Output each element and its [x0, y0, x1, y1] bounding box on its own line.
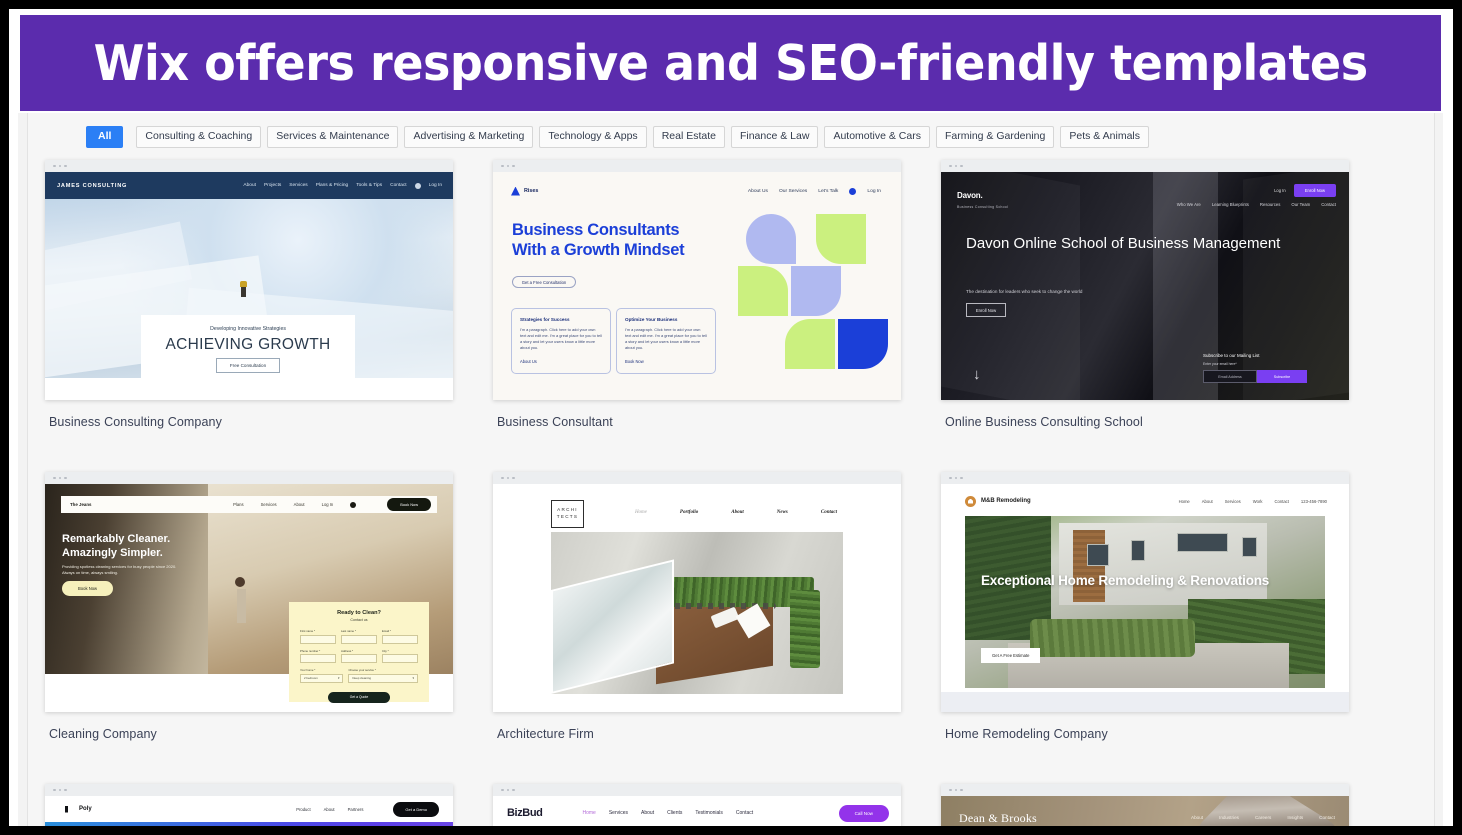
nav-link: Learning Blueprints	[1212, 202, 1249, 207]
nav-link: Clients	[667, 810, 682, 816]
feature-card-link: Book Now	[625, 359, 707, 364]
newsletter-title: Subscribe to our Mailing List	[1203, 353, 1307, 358]
nav-links: About Projects Services Plans & Pricing …	[243, 183, 442, 189]
nav-link: Contact	[390, 183, 407, 188]
newsletter-row: Email Address Subscribe	[1203, 370, 1307, 383]
phone-number: 123-456-7890	[1301, 499, 1327, 504]
field-label: Address *	[341, 649, 377, 653]
filter-chip-consulting-coaching[interactable]: Consulting & Coaching	[136, 126, 261, 149]
window-dot	[64, 165, 67, 168]
screenshot-root: Wix offers responsive and SEO-friendly t…	[0, 0, 1462, 835]
call-now-button: Call Now	[839, 805, 889, 822]
nav-link: Tools & Tips	[356, 183, 382, 188]
hero-headline: ACHIEVING GROWTH	[166, 336, 331, 354]
hero-headline: Remarkably Cleaner. Amazingly Simpler.	[62, 532, 170, 561]
account-icon	[849, 188, 856, 195]
template-body: Dean & Brooks Business Consultants About…	[941, 796, 1349, 826]
mountain-rock	[1187, 796, 1348, 826]
window-dot	[949, 477, 952, 480]
window-dot	[512, 789, 515, 792]
form-field: Address *	[341, 649, 377, 664]
grid-row-spacer	[493, 741, 901, 784]
text-input	[300, 635, 336, 644]
scroll-down-arrow-icon: ↓	[973, 367, 981, 382]
hero-text-box: Developing Innovative Strategies ACHIEVI…	[141, 315, 355, 383]
window-dot	[59, 789, 62, 792]
subscribe-button: Subscribe	[1257, 370, 1307, 383]
template-preview: M&B Remodeling Home About Services Work …	[941, 484, 1349, 712]
nav-link: Portfolio	[680, 510, 698, 515]
nav-link: About	[1191, 815, 1203, 820]
window-dot	[955, 165, 958, 168]
feature-card-body: I'm a paragraph. Click here to add your …	[520, 327, 602, 351]
window	[1087, 544, 1109, 566]
email-field: Email Address	[1203, 370, 1257, 383]
field-label: Choose your service *	[348, 668, 418, 672]
nav-link: About	[294, 502, 305, 507]
newsletter-signup: Subscribe to our Mailing List Enter your…	[1203, 353, 1307, 383]
template-body: Rises About Us Our Services Let's Talk L…	[493, 172, 901, 400]
feature-card-title: Optimize Your Business	[625, 317, 707, 322]
page-frame: Wix offers responsive and SEO-friendly t…	[9, 9, 1453, 826]
headline-line-1: Business Consultants	[512, 220, 684, 240]
filter-chip-automotive-cars[interactable]: Automotive & Cars	[824, 126, 930, 149]
window-dot	[507, 165, 510, 168]
browser-chrome	[941, 784, 1349, 796]
template-cell: Rises About Us Our Services Let's Talk L…	[493, 160, 901, 429]
window-dot	[960, 789, 963, 792]
book-now-button: Book Now	[387, 498, 431, 511]
nav-link: Contact	[1274, 499, 1288, 504]
browser-chrome	[45, 472, 453, 484]
template-name: Business Consulting Company	[49, 415, 453, 429]
browser-chrome	[941, 472, 1349, 484]
kitchen-photo: The Jeans Plans Services About Log In Bo…	[45, 484, 453, 712]
template-cell: The Jeans Plans Services About Log In Bo…	[45, 472, 453, 741]
text-input	[382, 635, 418, 644]
headline-line-2: Amazingly Simpler.	[62, 546, 170, 560]
window-dot	[955, 789, 958, 792]
brand-tagline: Business Consulting School	[957, 205, 1008, 209]
template-body: Fast & Reliable I'm a paragraph. Click h…	[45, 796, 453, 826]
filter-chip-technology-apps[interactable]: Technology & Apps	[539, 126, 646, 149]
nav-link: Our Services	[779, 189, 807, 194]
brand-logo: Rises	[524, 188, 538, 194]
template-header-nav: The Jeans Plans Services About Log In Bo…	[61, 496, 437, 513]
nav-link: Plans & Pricing	[316, 183, 349, 188]
template-preview: The Jeans Plans Services About Log In Bo…	[45, 484, 453, 712]
nav-link: Who We Are	[1177, 202, 1201, 207]
template-name: Cleaning Company	[49, 727, 453, 741]
window	[1242, 537, 1256, 558]
browser-chrome	[493, 472, 901, 484]
hero-cta-button: Get A Free Estimate	[981, 648, 1040, 663]
hero-headline: Exceptional Home Remodeling & Renovation…	[981, 572, 1269, 590]
window-dot	[960, 165, 963, 168]
field-label: Your home *	[300, 668, 343, 672]
login-link: Log In	[1274, 188, 1286, 193]
headline-line-1: Remarkably Cleaner.	[62, 532, 170, 546]
template-cell: ARCHI TECTS Home Portfolio About News Co…	[493, 472, 901, 741]
template-card-architecture-firm[interactable]: ARCHI TECTS Home Portfolio About News Co…	[493, 472, 901, 712]
window-dot	[512, 165, 515, 168]
template-preview: Fast & Reliable I'm a paragraph. Click h…	[45, 796, 453, 826]
template-body: BizBud Home Services About Clients Testi…	[493, 796, 901, 826]
feature-card: Strategies for Success I'm a paragraph. …	[511, 308, 611, 374]
geometric-artwork	[738, 214, 890, 374]
template-body: ARCHI TECTS Home Portfolio About News Co…	[493, 484, 901, 712]
get-a-demo-button: Get a Demo	[393, 802, 439, 817]
brand-logo: Poly	[79, 806, 92, 812]
window-dot	[501, 789, 504, 792]
template-cell: M&B Remodeling Home About Services Work …	[941, 472, 1349, 741]
window-dot	[53, 477, 56, 480]
feature-card-title: Strategies for Success	[520, 317, 602, 322]
nav-link: About	[1202, 499, 1213, 504]
select-service-type: Deep cleaning▾	[348, 674, 418, 683]
field-label: City *	[382, 649, 418, 653]
form-title: Ready to Clean?	[300, 610, 418, 616]
nav-link: Services	[261, 502, 277, 507]
nav-link: Partners	[348, 807, 364, 812]
enroll-button: Enroll Now	[1294, 184, 1336, 197]
select-value: 2 bedroom	[304, 676, 318, 680]
window	[1177, 533, 1227, 552]
garden-bushes	[1030, 619, 1196, 657]
account-icon	[350, 502, 356, 508]
browser-chrome	[45, 160, 453, 172]
nav-link: About Us	[748, 189, 768, 194]
hero-eyebrow: Developing Innovative Strategies	[210, 326, 286, 332]
hero-subtitle: The destination for leaders who seek to …	[966, 289, 1082, 294]
feature-card: Optimize Your Business I'm a paragraph. …	[616, 308, 716, 374]
template-name: Business Consultant	[497, 415, 901, 429]
hero-cta-button: Book Now	[62, 581, 113, 596]
get-a-quote-button: Get a Quote	[328, 692, 390, 703]
template-name: Home Remodeling Company	[945, 727, 1349, 741]
house-logo-icon	[965, 496, 976, 507]
template-preview: Dean & Brooks Business Consultants About…	[941, 796, 1349, 826]
browser-chrome	[493, 160, 901, 172]
window-dot	[507, 477, 510, 480]
form-selects: Your home * 2 bedroom▾ Choose your servi…	[300, 668, 418, 683]
logo-line-1: ARCHI	[557, 507, 578, 514]
nav-link: Our Team	[1291, 202, 1310, 207]
hero-gradient: Fast & Reliable I'm a paragraph. Click h…	[45, 822, 453, 826]
modern-house-photo: Exceptional Home Remodeling & Renovation…	[965, 516, 1325, 688]
template-cell: Fast & Reliable I'm a paragraph. Click h…	[45, 784, 453, 826]
brand-logo: BizBud	[507, 807, 542, 819]
nav-link: Insights	[1287, 815, 1303, 820]
form-fields: First name * Last name * Email * Phone n…	[300, 629, 418, 663]
template-preview: JAMES CONSULTING About Projects Services…	[45, 172, 453, 400]
hero-headline: Davon Online School of Business Manageme…	[966, 234, 1280, 254]
nav-link: Home	[635, 510, 647, 515]
grid-row-spacer	[493, 429, 901, 472]
nav-link: Contact	[821, 510, 837, 515]
template-header-nav: M&B Remodeling Home About Services Work …	[941, 490, 1349, 512]
brand-logo: Davon.	[957, 191, 982, 200]
template-cell: BizBud Home Services About Clients Testi…	[493, 784, 901, 826]
nav-link: Work	[1253, 499, 1263, 504]
login-link: Log In	[322, 502, 334, 507]
window-dot	[501, 477, 504, 480]
grid-row-spacer	[45, 741, 453, 784]
nav-links: About Industries Careers Insights Contac…	[1191, 815, 1335, 820]
browser-chrome	[941, 160, 1349, 172]
window-dot	[960, 477, 963, 480]
template-card-cleaning-company[interactable]: The Jeans Plans Services About Log In Bo…	[45, 472, 453, 712]
brand-logo: ARCHI TECTS	[551, 500, 584, 528]
window-dot	[64, 477, 67, 480]
filter-chip-all[interactable]: All	[86, 126, 123, 149]
form-field: Last name *	[341, 629, 377, 644]
feature-cards: Strategies for Success I'm a paragraph. …	[511, 308, 716, 374]
nav-link: Let's Talk	[818, 189, 838, 194]
template-card-dean-and-brooks[interactable]: Dean & Brooks Business Consultants About…	[941, 784, 1349, 826]
select-home-type: 2 bedroom▾	[300, 674, 343, 683]
template-body: M&B Remodeling Home About Services Work …	[941, 484, 1349, 712]
hero-headline: Business Consultants With a Growth Minds…	[512, 220, 684, 260]
nav-link: Projects	[264, 183, 281, 188]
template-card-home-remodeling-company[interactable]: M&B Remodeling Home About Services Work …	[941, 472, 1349, 712]
filter-chip-advertising-marketing[interactable]: Advertising & Marketing	[404, 126, 533, 149]
nav-links: Who We Are Learning Blueprints Resources…	[1177, 202, 1336, 207]
template-cell: JAMES CONSULTING About Projects Services…	[45, 160, 453, 429]
template-name: Architecture Firm	[497, 727, 901, 741]
nav-link: About	[243, 183, 256, 188]
template-card-online-business-consulting-school[interactable]: Davon. Business Consulting School Log In…	[941, 160, 1349, 400]
app-content: All Consulting & Coaching Services & Mai…	[27, 113, 1435, 826]
nav-link: Careers	[1255, 815, 1271, 820]
account-icon	[415, 183, 421, 189]
hiker-figure	[241, 284, 246, 297]
text-input	[382, 654, 418, 663]
window-dot	[53, 165, 56, 168]
nav-link: Contact	[1319, 815, 1335, 820]
nav-link: Resources	[1260, 202, 1281, 207]
feature-card-body: I'm a paragraph. Click here to add your …	[625, 327, 707, 351]
brand-logo-block: Davon. Business Consulting School	[957, 185, 1008, 209]
nav-links: Product About Partners Get a Demo	[296, 802, 439, 817]
grid-row-spacer	[45, 429, 453, 472]
nav-link: About	[324, 807, 335, 812]
window-dot	[507, 789, 510, 792]
nav-link: Industries	[1219, 815, 1239, 820]
template-card-business-consulting-company[interactable]: JAMES CONSULTING About Projects Services…	[45, 160, 453, 400]
template-name: Online Business Consulting School	[945, 415, 1349, 429]
nav-link: Plans	[233, 502, 243, 507]
banner-title: Wix offers responsive and SEO-friendly t…	[94, 35, 1368, 92]
wix-templates-app: All Consulting & Coaching Services & Mai…	[18, 113, 1443, 826]
text-input	[341, 635, 377, 644]
hero-body-text: Providing spotless cleaning services for…	[62, 564, 182, 576]
template-cell: Dean & Brooks Business Consultants About…	[941, 784, 1349, 826]
grid-row-spacer	[941, 741, 1349, 784]
rooftop-terrace-photo	[551, 532, 843, 694]
template-cell: Davon. Business Consulting School Log In…	[941, 160, 1349, 429]
nav-link: News	[777, 510, 788, 515]
template-grid: JAMES CONSULTING About Projects Services…	[28, 151, 1434, 826]
person-figure	[237, 589, 246, 623]
template-preview: Davon. Business Consulting School Log In…	[941, 172, 1349, 400]
login-link: Log In	[429, 183, 442, 188]
nav-link: Services	[1225, 499, 1241, 504]
form-subtitle: Contact us	[300, 618, 418, 622]
page-footer-strip	[941, 692, 1349, 712]
form-field: Choose your service * Deep cleaning▾	[348, 668, 418, 683]
template-card-poly[interactable]: Fast & Reliable I'm a paragraph. Click h…	[45, 784, 453, 826]
logo-line-2: TECTS	[557, 514, 579, 521]
chevron-down-icon: ▾	[413, 676, 414, 680]
brand-logo: M&B Remodeling	[981, 498, 1031, 504]
text-input	[341, 654, 377, 663]
filter-chip-farming-gardening[interactable]: Farming & Gardening	[936, 126, 1054, 149]
template-header-nav: Poly Product About Partners Get a Demo	[45, 796, 453, 822]
form-field: Your home * 2 bedroom▾	[300, 668, 343, 683]
nav-link: Services	[289, 183, 307, 188]
nav-links: Plans Services About Log In Book Now	[233, 498, 431, 511]
window-dot	[949, 165, 952, 168]
text-input	[300, 654, 336, 663]
window-dot	[59, 477, 62, 480]
feature-card-link: About Us	[520, 359, 602, 364]
window-dot	[501, 165, 504, 168]
field-label: Email *	[382, 629, 418, 633]
window-dot	[53, 789, 56, 792]
window-dot	[949, 789, 952, 792]
form-field: Phone number *	[300, 649, 336, 664]
newsletter-label: Enter your email here*	[1203, 362, 1307, 366]
hedge-side	[790, 590, 819, 668]
template-preview: ARCHI TECTS Home Portfolio About News Co…	[493, 484, 901, 712]
poly-logo-icon	[65, 806, 72, 813]
brand-logo: JAMES CONSULTING	[57, 183, 127, 189]
nav-links: Home About Services Work Contact 123-456…	[1179, 499, 1327, 504]
browser-chrome	[493, 784, 901, 796]
browser-chrome	[45, 784, 453, 796]
template-preview: BizBud Home Services About Clients Testi…	[493, 796, 901, 826]
filter-chip-services-maintenance[interactable]: Services & Maintenance	[267, 126, 398, 149]
nav-link: Contact	[736, 810, 753, 816]
nav-link: Testimonials	[695, 810, 723, 816]
field-label: Phone number *	[300, 649, 336, 653]
template-card-business-consultant[interactable]: Rises About Us Our Services Let's Talk L…	[493, 160, 901, 400]
field-label: Last name *	[341, 629, 377, 633]
form-field: City *	[382, 649, 418, 664]
nav-link: About	[731, 510, 744, 515]
nav-link: Product	[296, 807, 310, 812]
grid-row-spacer	[941, 429, 1349, 472]
header-actions: Log In Enroll Now	[1274, 184, 1336, 197]
login-link: Log In	[867, 189, 881, 194]
nav-links: Home Services About Clients Testimonials…	[582, 810, 753, 816]
hero-cta-button: Free Consultation	[216, 358, 280, 373]
skyscraper-photo: Davon. Business Consulting School Log In…	[941, 172, 1349, 400]
window-dot	[64, 789, 67, 792]
window-dot	[955, 477, 958, 480]
nav-link: About	[641, 810, 654, 816]
nav-link: Services	[609, 810, 628, 816]
template-preview: Rises About Us Our Services Let's Talk L…	[493, 172, 901, 400]
contact-form: Ready to Clean? Contact us First name * …	[289, 602, 429, 702]
nav-links: Home Portfolio About News Contact	[635, 510, 837, 515]
slide-banner: Wix offers responsive and SEO-friendly t…	[18, 13, 1443, 113]
template-card-bizbud[interactable]: BizBud Home Services About Clients Testi…	[493, 784, 901, 826]
hero-cta-button: Get a Free Consultation	[512, 276, 576, 288]
form-field: Email *	[382, 629, 418, 644]
nav-link-active: Home	[582, 810, 595, 816]
window-dot	[512, 477, 515, 480]
hero-cta-button: Enroll Now	[966, 303, 1006, 317]
chevron-down-icon: ▾	[338, 676, 339, 680]
nav-links: About Us Our Services Let's Talk Log In	[748, 188, 881, 195]
category-filter-bar: All Consulting & Coaching Services & Mai…	[28, 113, 1434, 151]
template-header-nav: JAMES CONSULTING About Projects Services…	[45, 172, 453, 199]
headline-line-2: With a Growth Mindset	[512, 240, 684, 260]
filter-chip-pets-animals[interactable]: Pets & Animals	[1060, 126, 1149, 149]
filter-chip-finance-law[interactable]: Finance & Law	[731, 126, 818, 149]
form-field: First name *	[300, 629, 336, 644]
nav-link: Home	[1179, 499, 1190, 504]
template-header-nav: Rises About Us Our Services Let's Talk L…	[493, 180, 901, 202]
brand-logo: The Jeans	[70, 502, 91, 507]
filter-chip-real-estate[interactable]: Real Estate	[653, 126, 725, 149]
page-footer-strip	[45, 378, 453, 400]
select-value: Deep cleaning	[352, 676, 370, 680]
brand-logo: Dean & Brooks	[959, 811, 1037, 826]
template-header-nav: BizBud Home Services About Clients Testi…	[493, 798, 901, 826]
nav-link: Contact	[1321, 202, 1336, 207]
field-label: First name *	[300, 629, 336, 633]
window-dot	[59, 165, 62, 168]
window	[1131, 540, 1145, 561]
triangle-logo-icon	[511, 187, 520, 196]
